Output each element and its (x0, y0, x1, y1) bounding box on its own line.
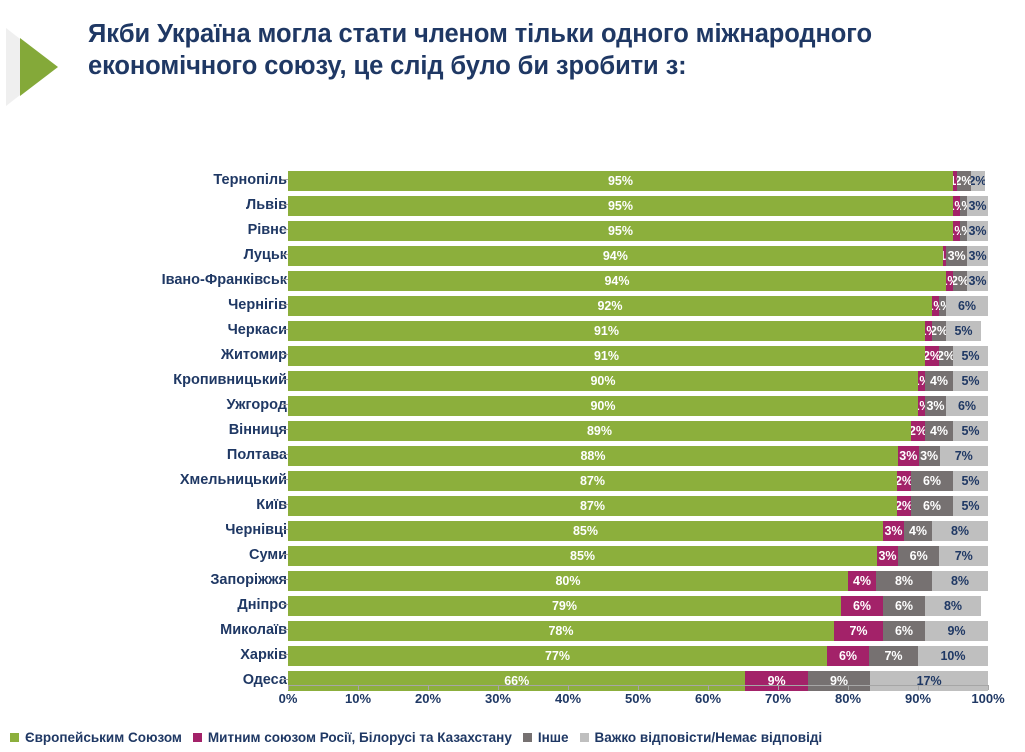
bar-segment-label: 1% (939, 299, 946, 313)
axis-tick (288, 685, 289, 690)
stacked-bar: 88%3%3%7% (288, 446, 988, 466)
legend-item-na[interactable]: Важко відповісти/Немає відповіді (580, 730, 823, 745)
category-label: Вінниця (229, 418, 287, 443)
bar-segment-label: 1% (960, 199, 967, 213)
bar-segment-label: 80% (288, 574, 848, 588)
bar-segment-other: 9% (808, 671, 870, 691)
bar-segment-label: 6% (923, 499, 941, 513)
bar-segment-label: 4% (909, 524, 927, 538)
bar-segment-label: 3% (968, 199, 986, 213)
bar-segment-eu: 92% (288, 296, 932, 316)
bar-segment-other: 6% (883, 596, 925, 616)
bar-segment-cu: 3% (877, 546, 898, 566)
stacked-bar: 95%<1%2%2% (288, 171, 988, 191)
bar-segment-other: 2% (932, 321, 946, 341)
chart-row: Ужгород90%1%3%6% (0, 393, 1025, 418)
bar-segment-label: 6% (958, 399, 976, 413)
bar-segment-other: 6% (898, 546, 940, 566)
bar-segment-eu: 94% (288, 271, 946, 291)
bar-segment-label: 1% (960, 224, 967, 238)
chart-row: Черкаси91%1%2%5% (0, 318, 1025, 343)
chart-row: Київ87%2%6%5% (0, 493, 1025, 518)
bar-segment-label: 3% (968, 224, 986, 238)
arrow-green-icon (20, 38, 58, 96)
bar-segment-cu: 1% (918, 396, 925, 416)
bar-segment-cu: 1% (925, 321, 932, 341)
bar-segment-eu: 91% (288, 321, 925, 341)
bar-segment-cu: 2% (911, 421, 925, 441)
bar-segment-na: 5% (953, 371, 988, 391)
bar-segment-label: 6% (923, 474, 941, 488)
axis-tick-label: 90% (892, 691, 944, 706)
bar-segment-other: 4% (925, 421, 953, 441)
chart-legend: Європейським СоюзомМитним союзом Росії, … (10, 726, 1020, 748)
bar-segment-label: 85% (288, 549, 877, 563)
chart-row: Харків77%6%7%10% (0, 643, 1025, 668)
bar-segment-eu: 66% (288, 671, 745, 691)
bar-segment-label: 7% (955, 549, 973, 563)
category-label: Черкаси (228, 318, 287, 343)
stacked-bar: 91%2%2%5% (288, 346, 988, 366)
legend-label: Важко відповісти/Немає відповіді (595, 730, 823, 745)
category-label: Львів (246, 193, 287, 218)
category-label: Чернігів (228, 293, 287, 318)
bar-segment-label: 2% (897, 474, 911, 488)
bar-segment-label: 5% (961, 374, 979, 388)
bar-segment-label: 4% (930, 374, 948, 388)
axis-tick (428, 685, 429, 690)
category-label: Полтава (227, 443, 287, 468)
bar-segment-label: 5% (961, 349, 979, 363)
bar-segment-cu: 1% (932, 296, 939, 316)
bar-segment-eu: 90% (288, 396, 918, 416)
axis-tick (778, 685, 779, 690)
bar-segment-eu: 78% (288, 621, 834, 641)
bar-segment-other: 1% (960, 221, 967, 241)
bar-segment-cu: 4% (848, 571, 876, 591)
axis-tick (848, 685, 849, 690)
bar-segment-label: 87% (288, 499, 897, 513)
category-label: Одеса (243, 668, 287, 693)
axis-tick (358, 685, 359, 690)
bar-segment-eu: 85% (288, 546, 877, 566)
bar-segment-na: 9% (925, 621, 988, 641)
bar-segment-label: 2% (925, 349, 939, 363)
bar-segment-label: 1% (932, 299, 939, 313)
stacked-bar: 80%4%8%8% (288, 571, 988, 591)
bar-segment-label: 3% (920, 449, 938, 463)
legend-swatch-cu-icon (193, 733, 202, 742)
stacked-bar: 87%2%6%5% (288, 471, 988, 491)
chart-row: Миколаїв78%7%6%9% (0, 618, 1025, 643)
bar-segment-cu: 9% (745, 671, 807, 691)
category-label: Кропивницький (173, 368, 287, 393)
bar-segment-cu: 2% (897, 496, 911, 516)
stacked-bar: 94%1%2%3% (288, 271, 988, 291)
bar-segment-label: 8% (951, 574, 969, 588)
slide-header: Якби Україна могла стати членом тільки о… (0, 0, 1025, 152)
bar-segment-label: 2% (939, 349, 953, 363)
bar-segment-label: 3% (926, 399, 944, 413)
bar-segment-label: 6% (958, 299, 976, 313)
bar-segment-other: 2% (957, 171, 971, 191)
bar-segment-label: 2% (911, 424, 925, 438)
legend-item-eu[interactable]: Європейським Союзом (10, 730, 182, 745)
category-label: Івано-Франківськ (162, 268, 287, 293)
bar-segment-other: 2% (953, 271, 967, 291)
bar-segment-label: 6% (839, 649, 857, 663)
bar-segment-label: 8% (944, 599, 962, 613)
bar-segment-cu: 1% (918, 371, 925, 391)
bar-segment-label: 1% (918, 399, 925, 413)
stacked-bar: 79%6%6%8% (288, 596, 988, 616)
bar-segment-na: 2% (971, 171, 985, 191)
bar-segment-label: 90% (288, 374, 918, 388)
bar-segment-label: 5% (961, 499, 979, 513)
bar-segment-label: 3% (899, 449, 917, 463)
axis-tick (498, 685, 499, 690)
chart-row: Львів95%1%1%3% (0, 193, 1025, 218)
bar-segment-other: 4% (904, 521, 932, 541)
stacked-bar: 77%6%7%10% (288, 646, 988, 666)
bar-segment-label: 8% (895, 574, 913, 588)
stacked-bar: 90%1%3%6% (288, 396, 988, 416)
bar-segment-eu: 77% (288, 646, 827, 666)
bar-segment-label: 4% (930, 424, 948, 438)
bar-segment-label: 6% (853, 599, 871, 613)
chart-row: Луцьк94%<1%3%3% (0, 243, 1025, 268)
stacked-bar: 85%3%4%8% (288, 521, 988, 541)
bar-segment-label: 7% (955, 449, 973, 463)
bar-segment-label: 3% (884, 524, 902, 538)
bar-segment-other: 2% (939, 346, 953, 366)
bar-segment-na: 6% (946, 296, 988, 316)
bar-segment-label: 7% (884, 649, 902, 663)
bar-segment-cu: 2% (897, 471, 911, 491)
category-label: Луцьк (244, 243, 287, 268)
bar-segment-other: 3% (925, 396, 946, 416)
stacked-bar: 89%2%4%5% (288, 421, 988, 441)
bar-segment-na: 8% (932, 521, 988, 541)
category-label: Харків (240, 643, 287, 668)
axis-tick (568, 685, 569, 690)
bar-segment-label: 85% (288, 524, 883, 538)
bar-segment-eu: 94% (288, 246, 943, 266)
bar-segment-cu: 1% (953, 196, 960, 216)
stacked-bar: 78%7%6%9% (288, 621, 988, 641)
chart-row: Житомир91%2%2%5% (0, 343, 1025, 368)
chart-row: Кропивницький90%1%4%5% (0, 368, 1025, 393)
stacked-bar: 92%1%1%6% (288, 296, 988, 316)
bar-segment-other: 1% (960, 196, 967, 216)
bar-segment-cu: 1% (946, 271, 953, 291)
bar-segment-eu: 88% (288, 446, 898, 466)
stacked-bar-chart: Тернопіль95%<1%2%2%Львів95%1%1%3%Рівне95… (0, 158, 1025, 718)
axis-tick-label: 80% (822, 691, 874, 706)
bar-segment-eu: 95% (288, 196, 953, 216)
legend-item-other[interactable]: Інше (523, 730, 569, 745)
bar-segment-eu: 85% (288, 521, 883, 541)
legend-item-cu[interactable]: Митним союзом Росії, Білорусі та Казахст… (193, 730, 512, 745)
bar-segment-na: 5% (953, 496, 988, 516)
bar-segment-na: 5% (953, 421, 988, 441)
bar-segment-na: 7% (939, 546, 988, 566)
bar-segment-label: 3% (948, 249, 966, 263)
stacked-bar: 95%1%1%3% (288, 196, 988, 216)
bar-segment-label: 94% (288, 249, 943, 263)
bar-segment-eu: 87% (288, 471, 897, 491)
bar-segment-label: 4% (853, 574, 871, 588)
bar-segment-label: 87% (288, 474, 897, 488)
bar-segment-na: 7% (940, 446, 989, 466)
bar-segment-other: 8% (876, 571, 932, 591)
bar-segment-eu: 87% (288, 496, 897, 516)
bar-segment-label: 90% (288, 399, 918, 413)
chart-row: Дніпро79%6%6%8% (0, 593, 1025, 618)
bar-segment-eu: 95% (288, 221, 953, 241)
bar-segment-na: 5% (946, 321, 981, 341)
bar-segment-eu: 95% (288, 171, 953, 191)
bar-segment-na: 8% (925, 596, 981, 616)
chart-row: Запоріжжя80%4%8%8% (0, 568, 1025, 593)
axis-tick-label: 10% (332, 691, 384, 706)
bar-segment-cu: 1% (953, 221, 960, 241)
category-label: Київ (256, 493, 287, 518)
bar-segment-label: 5% (954, 324, 972, 338)
chart-row: Івано-Франківськ94%1%2%3% (0, 268, 1025, 293)
legend-label: Європейським Союзом (25, 730, 182, 745)
chart-row: Полтава88%3%3%7% (0, 443, 1025, 468)
stacked-bar: 95%1%1%3% (288, 221, 988, 241)
bar-segment-eu: 91% (288, 346, 925, 366)
play-arrow-icon (6, 28, 84, 106)
bar-segment-label: 3% (878, 549, 896, 563)
bar-segment-label: 3% (969, 249, 987, 263)
bar-segment-na: 6% (946, 396, 988, 416)
bar-segment-cu: 3% (883, 521, 904, 541)
stacked-bar: 91%1%2%5% (288, 321, 988, 341)
bar-segment-cu: 6% (827, 646, 869, 666)
legend-swatch-other-icon (523, 733, 532, 742)
chart-row: Одеса66%9%9%17% (0, 668, 1025, 693)
bar-segment-label: 8% (951, 524, 969, 538)
chart-row: Суми85%3%6%7% (0, 543, 1025, 568)
bar-segment-other: 4% (925, 371, 953, 391)
legend-label: Митним союзом Росії, Білорусі та Казахст… (208, 730, 512, 745)
category-label: Тернопіль (213, 168, 287, 193)
legend-swatch-na-icon (580, 733, 589, 742)
stacked-bar: 85%3%6%7% (288, 546, 988, 566)
bar-segment-na: 3% (967, 271, 988, 291)
category-label: Житомир (221, 343, 287, 368)
bar-segment-label: 10% (940, 649, 965, 663)
bar-segment-na: 17% (870, 671, 988, 691)
bar-segment-label: 91% (288, 349, 925, 363)
legend-label: Інше (538, 730, 569, 745)
bar-segment-label: 89% (288, 424, 911, 438)
bar-segment-eu: 89% (288, 421, 911, 441)
bar-segment-label: 2% (957, 174, 971, 188)
page-title: Якби Україна могла стати членом тільки о… (88, 18, 968, 82)
axis-tick-label: 40% (542, 691, 594, 706)
bar-segment-label: 5% (961, 474, 979, 488)
bar-segment-other: 3% (919, 446, 940, 466)
stacked-bar: 90%1%4%5% (288, 371, 988, 391)
bar-segment-label: 1% (925, 324, 932, 338)
chart-row: Тернопіль95%<1%2%2% (0, 168, 1025, 193)
axis-tick (708, 685, 709, 690)
bar-segment-label: 1% (953, 224, 960, 238)
bar-segment-label: 77% (288, 649, 827, 663)
bar-segment-label: 95% (288, 224, 953, 238)
legend-swatch-eu-icon (10, 733, 19, 742)
bar-segment-label: 92% (288, 299, 932, 313)
bar-segment-na: 8% (932, 571, 988, 591)
bar-segment-other: 3% (946, 246, 967, 266)
axis-tick-label: 0% (262, 691, 314, 706)
bar-segment-label: 78% (288, 624, 834, 638)
chart-row: Чернігів92%1%1%6% (0, 293, 1025, 318)
bar-segment-other: 1% (939, 296, 946, 316)
category-label: Рівне (248, 218, 287, 243)
bar-segment-na: 10% (918, 646, 988, 666)
axis-tick-label: 30% (472, 691, 524, 706)
bar-segment-label: 9% (947, 624, 965, 638)
bar-segment-other: 7% (869, 646, 918, 666)
bar-segment-label: 6% (895, 624, 913, 638)
category-label: Миколаїв (220, 618, 287, 643)
bar-segment-label: 1% (953, 199, 960, 213)
bar-segment-cu: 6% (841, 596, 883, 616)
axis-tick-label: 20% (402, 691, 454, 706)
axis-tick-label: 50% (612, 691, 664, 706)
axis-tick (988, 685, 989, 690)
bar-segment-label: 2% (932, 324, 946, 338)
bar-segment-label: 79% (288, 599, 841, 613)
bar-segment-eu: 79% (288, 596, 841, 616)
axis-tick-label: 60% (682, 691, 734, 706)
bar-segment-na: 5% (953, 346, 988, 366)
axis-tick (638, 685, 639, 690)
bar-segment-label: 6% (910, 549, 928, 563)
bar-segment-label: 7% (849, 624, 867, 638)
bar-segment-eu: 90% (288, 371, 918, 391)
bar-segment-label: 88% (288, 449, 898, 463)
stacked-bar: 94%<1%3%3% (288, 246, 988, 266)
bar-segment-label: 95% (288, 174, 953, 188)
category-label: Суми (249, 543, 287, 568)
bar-segment-label: 5% (961, 424, 979, 438)
bar-segment-label: 94% (288, 274, 946, 288)
bar-segment-label: 95% (288, 199, 953, 213)
axis-tick (918, 685, 919, 690)
category-label: Хмельницький (180, 468, 287, 493)
bar-segment-cu: 3% (898, 446, 919, 466)
chart-row: Чернівці85%3%4%8% (0, 518, 1025, 543)
bar-segment-label: 2% (953, 274, 967, 288)
category-label: Запоріжжя (210, 568, 287, 593)
bar-segment-na: 5% (953, 471, 988, 491)
bar-segment-cu: 2% (925, 346, 939, 366)
bar-segment-other: 6% (883, 621, 925, 641)
chart-row: Хмельницький87%2%6%5% (0, 468, 1025, 493)
bar-segment-label: 6% (895, 599, 913, 613)
bar-segment-na: 3% (967, 196, 988, 216)
bar-segment-label: 1% (946, 274, 953, 288)
bar-segment-label: 1% (918, 374, 925, 388)
bar-segment-other: 6% (911, 496, 953, 516)
axis-tick-label: 100% (962, 691, 1014, 706)
bar-segment-label: 2% (971, 174, 985, 188)
bar-segment-cu: 7% (834, 621, 883, 641)
category-label: Чернівці (225, 518, 287, 543)
chart-row: Вінниця89%2%4%5% (0, 418, 1025, 443)
bar-segment-label: 2% (897, 499, 911, 513)
bar-segment-label: 91% (288, 324, 925, 338)
category-label: Дніпро (237, 593, 287, 618)
stacked-bar: 87%2%6%5% (288, 496, 988, 516)
bar-segment-na: 3% (967, 221, 988, 241)
bar-segment-eu: 80% (288, 571, 848, 591)
bar-segment-other: 6% (911, 471, 953, 491)
bar-segment-na: 3% (967, 246, 988, 266)
category-label: Ужгород (226, 393, 287, 418)
bar-segment-label: 3% (968, 274, 986, 288)
chart-row: Рівне95%1%1%3% (0, 218, 1025, 243)
axis-tick-label: 70% (752, 691, 804, 706)
